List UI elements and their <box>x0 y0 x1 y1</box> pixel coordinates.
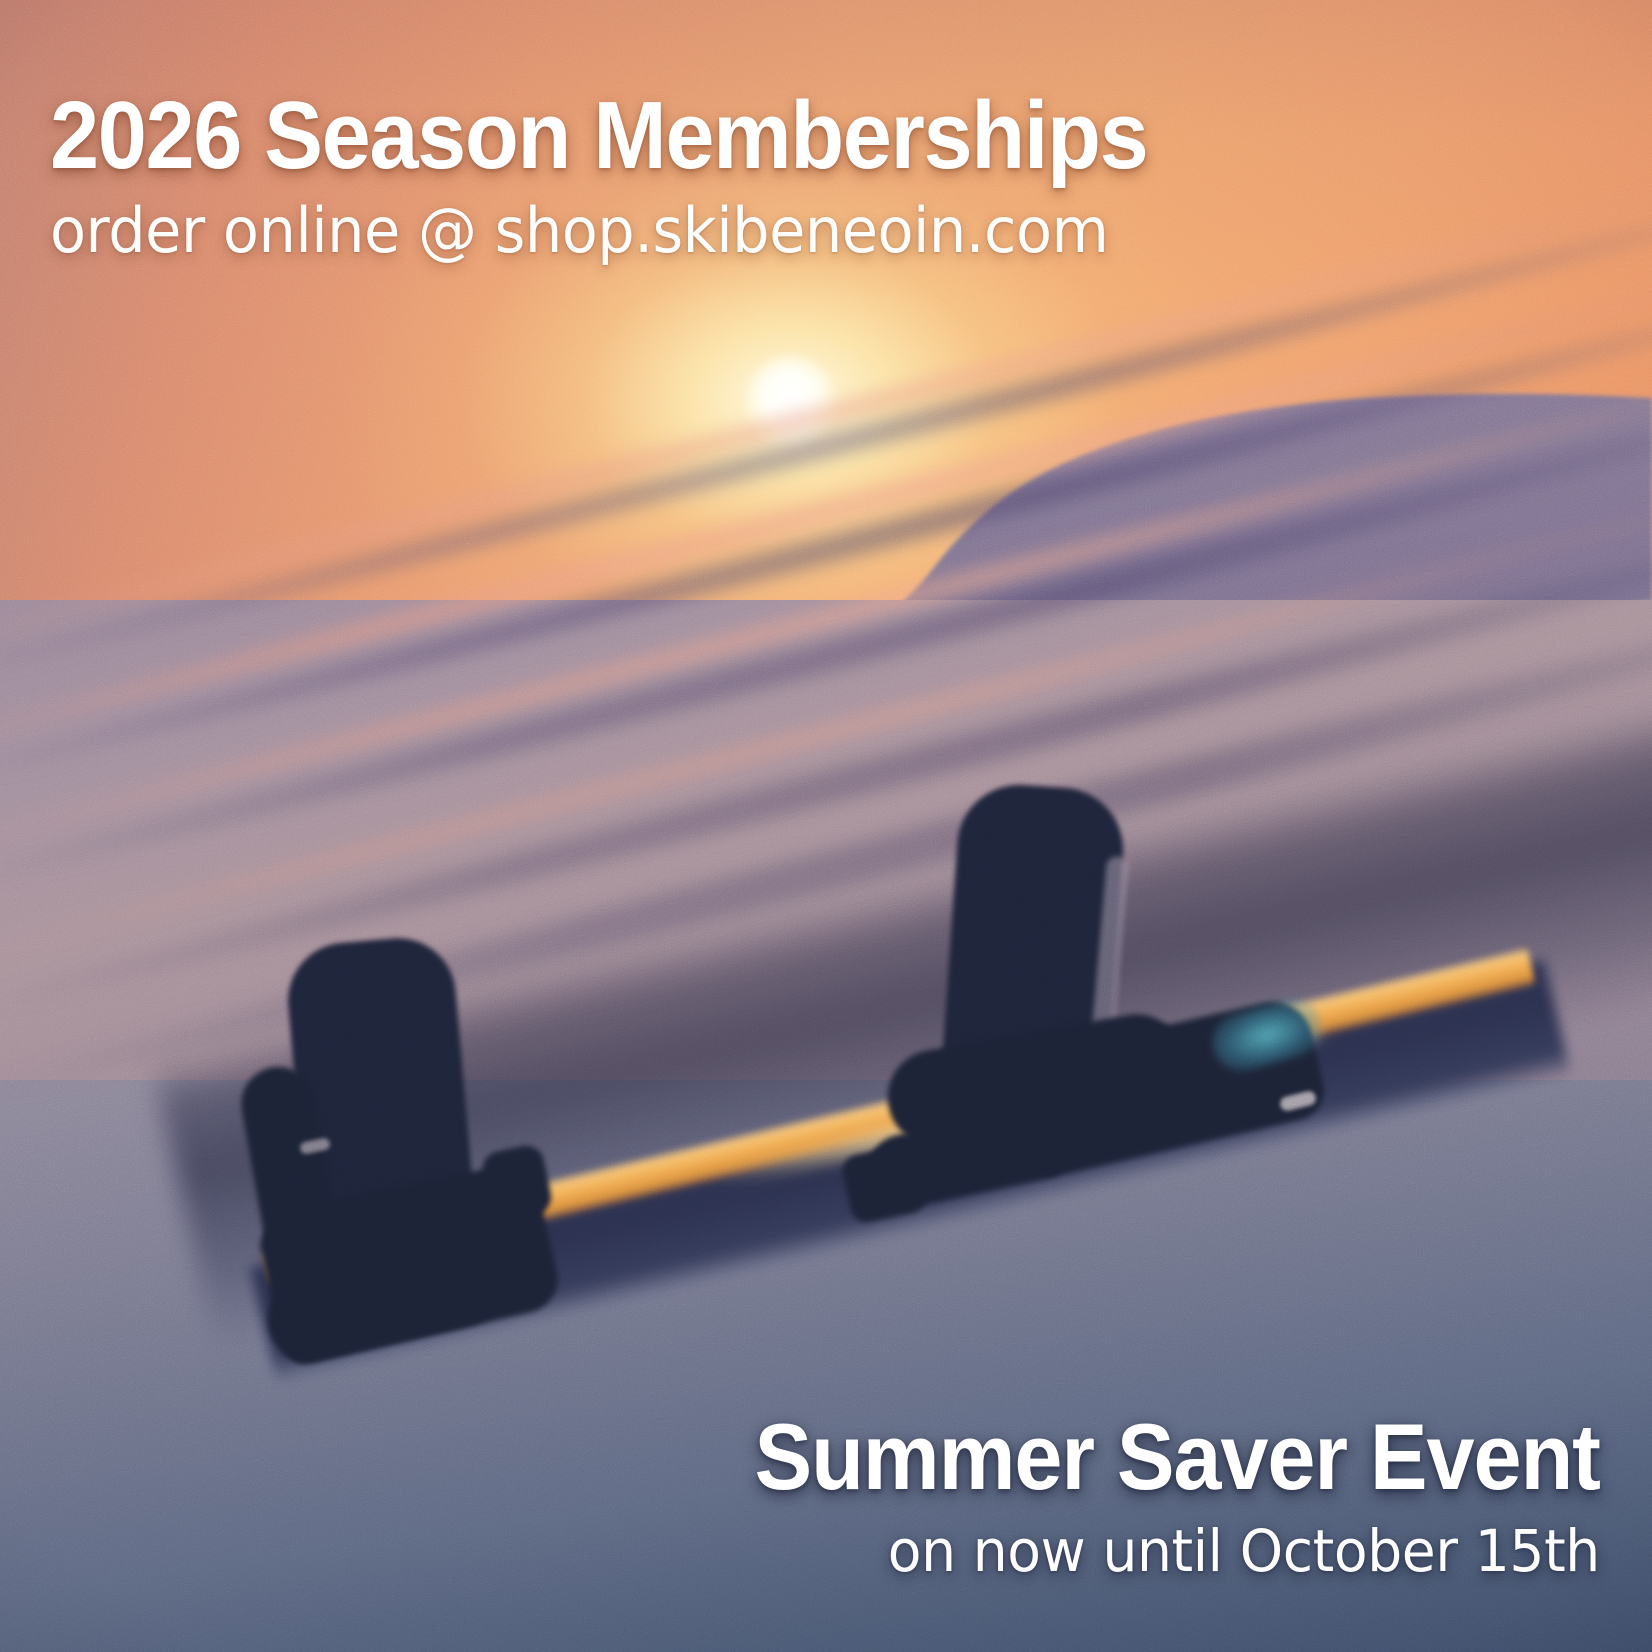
page-title: 2026 Season Memberships <box>50 88 1430 184</box>
promo-deadline: on now until October 15th <box>727 1522 1600 1580</box>
promo-title: Summer Saver Event <box>755 1410 1600 1504</box>
top-text-block: 2026 Season Memberships order online @ s… <box>50 88 1550 262</box>
bottom-text-block: Summer Saver Event on now until October … <box>681 1410 1600 1580</box>
promo-poster: 2026 Season Memberships order online @ s… <box>0 0 1652 1652</box>
shop-url-line[interactable]: order online @ shop.skibeneoin.com <box>50 200 1475 262</box>
